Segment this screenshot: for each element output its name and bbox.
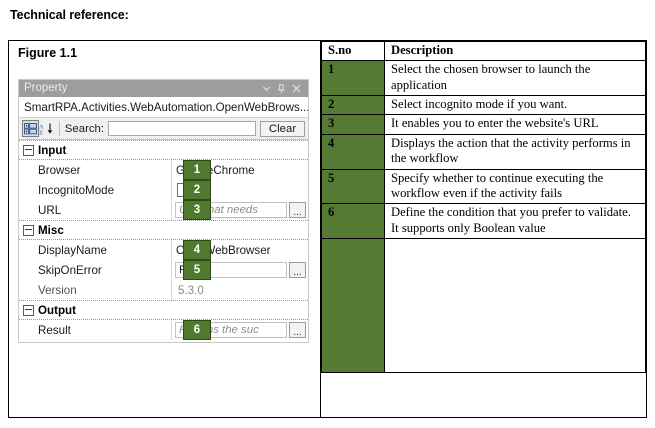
callout-badge-3: 3 (183, 200, 211, 220)
property-name: Browser (19, 164, 171, 177)
property-panel-subtitle: SmartRPA.Activities.WebAutomation.OpenWe… (19, 97, 308, 118)
table-row: 1 Select the chosen browser to launch th… (321, 61, 645, 96)
figure-table: Figure 1.1 Property (8, 40, 647, 418)
table-row: 5 Specify whether to continue executing … (321, 169, 645, 204)
property-name: Result (19, 324, 171, 337)
table-row: 4 Displays the action that the activity … (321, 134, 645, 169)
property-grid: Input Browser GoogleChrome 1 IncognitoMo… (19, 140, 308, 342)
property-row-url[interactable]: URL URL that needs ... 3 (19, 200, 308, 220)
skiponerror-ellipsis-button[interactable]: ... (289, 262, 306, 278)
search-input[interactable] (108, 121, 256, 136)
url-ellipsis-button[interactable]: ... (289, 202, 306, 218)
table-filler-row (321, 238, 645, 372)
property-group-output[interactable]: Output (19, 300, 308, 320)
cell-description: Displays the action that the activity pe… (384, 134, 645, 169)
cell-description: Select the chosen browser to launch the … (384, 61, 645, 96)
cell-sno: 1 (321, 61, 384, 96)
callout-badge-2: 2 (183, 180, 211, 200)
chevron-down-icon[interactable] (259, 81, 274, 96)
description-cell: S.no Description 1 Select the chosen bro… (320, 41, 646, 418)
cell-sno: 5 (321, 169, 384, 204)
result-ellipsis-button[interactable]: ... (289, 322, 306, 338)
cell-description: Specify whether to continue executing th… (384, 169, 645, 204)
callout-badge-5: 5 (183, 260, 211, 280)
callout-badge-4: 4 (183, 240, 211, 260)
figure-label: Figure 1.1 (9, 41, 320, 60)
table-row: 6 Define the condition that you prefer t… (321, 204, 645, 239)
property-value: 5.3.0 (171, 280, 308, 300)
property-name: IncognitoMode (19, 184, 171, 197)
property-name: URL (19, 204, 171, 217)
close-icon[interactable] (289, 81, 304, 96)
column-header-sno: S.no (321, 42, 384, 61)
categorized-view-icon[interactable] (22, 120, 39, 137)
callout-badge-1: 1 (183, 160, 211, 180)
property-panel-titlebar: Property (19, 80, 308, 97)
cell-description: It enables you to enter the website's UR… (384, 115, 645, 134)
cell-sno: 4 (321, 134, 384, 169)
cell-sno-filler (321, 238, 384, 372)
property-group-misc[interactable]: Misc (19, 220, 308, 240)
property-panel-toolbar: A Z Search: Clear (19, 118, 308, 140)
collapse-icon[interactable] (23, 225, 34, 236)
callout-badge-6: 6 (183, 320, 211, 340)
property-row-incognitomode[interactable]: IncognitoMode 2 (19, 180, 308, 200)
property-group-label: Input (38, 144, 66, 157)
pin-icon[interactable] (274, 81, 289, 96)
alphabetical-sort-icon[interactable]: A Z (39, 120, 55, 137)
svg-text:Z: Z (39, 129, 43, 135)
search-label: Search: (65, 123, 104, 135)
figure-cell: Figure 1.1 Property (9, 41, 321, 418)
property-row-result[interactable]: Result Returns the suc ... 6 (19, 320, 308, 340)
cell-description-filler (384, 238, 645, 372)
property-row-version: Version 5.3.0 (19, 280, 308, 300)
property-group-label: Output (38, 304, 76, 317)
property-panel-title: Property (24, 80, 259, 97)
property-panel: Property (18, 79, 309, 343)
description-table: S.no Description 1 Select the chosen bro… (321, 41, 646, 373)
page-title: Technical reference: (10, 8, 129, 22)
toolbar-separator (59, 121, 60, 136)
property-group-label: Misc (38, 224, 64, 237)
property-value-text: 5.3.0 (176, 284, 204, 297)
clear-button[interactable]: Clear (260, 121, 305, 137)
property-name: DisplayName (19, 244, 171, 257)
cell-description: Define the condition that you prefer to … (384, 204, 645, 239)
property-row-skiponerror[interactable]: SkipOnError False ... 5 (19, 260, 308, 280)
collapse-icon[interactable] (23, 145, 34, 156)
property-name: SkipOnError (19, 264, 171, 277)
table-row: 3 It enables you to enter the website's … (321, 115, 645, 134)
page-root: Technical reference: Figure 1.1 Property (0, 0, 655, 428)
table-header-row: S.no Description (321, 42, 645, 61)
table-row: 2 Select incognito mode if you want. (321, 96, 645, 115)
cell-sno: 3 (321, 115, 384, 134)
collapse-icon[interactable] (23, 305, 34, 316)
property-row-browser[interactable]: Browser GoogleChrome 1 (19, 160, 308, 180)
property-name: Version (19, 284, 171, 297)
property-row-displayname[interactable]: DisplayName OpenWebBrowser 4 (19, 240, 308, 260)
cell-description: Select incognito mode if you want. (384, 96, 645, 115)
column-header-description: Description (384, 42, 645, 61)
property-group-input[interactable]: Input (19, 140, 308, 160)
cell-sno: 6 (321, 204, 384, 239)
cell-sno: 2 (321, 96, 384, 115)
